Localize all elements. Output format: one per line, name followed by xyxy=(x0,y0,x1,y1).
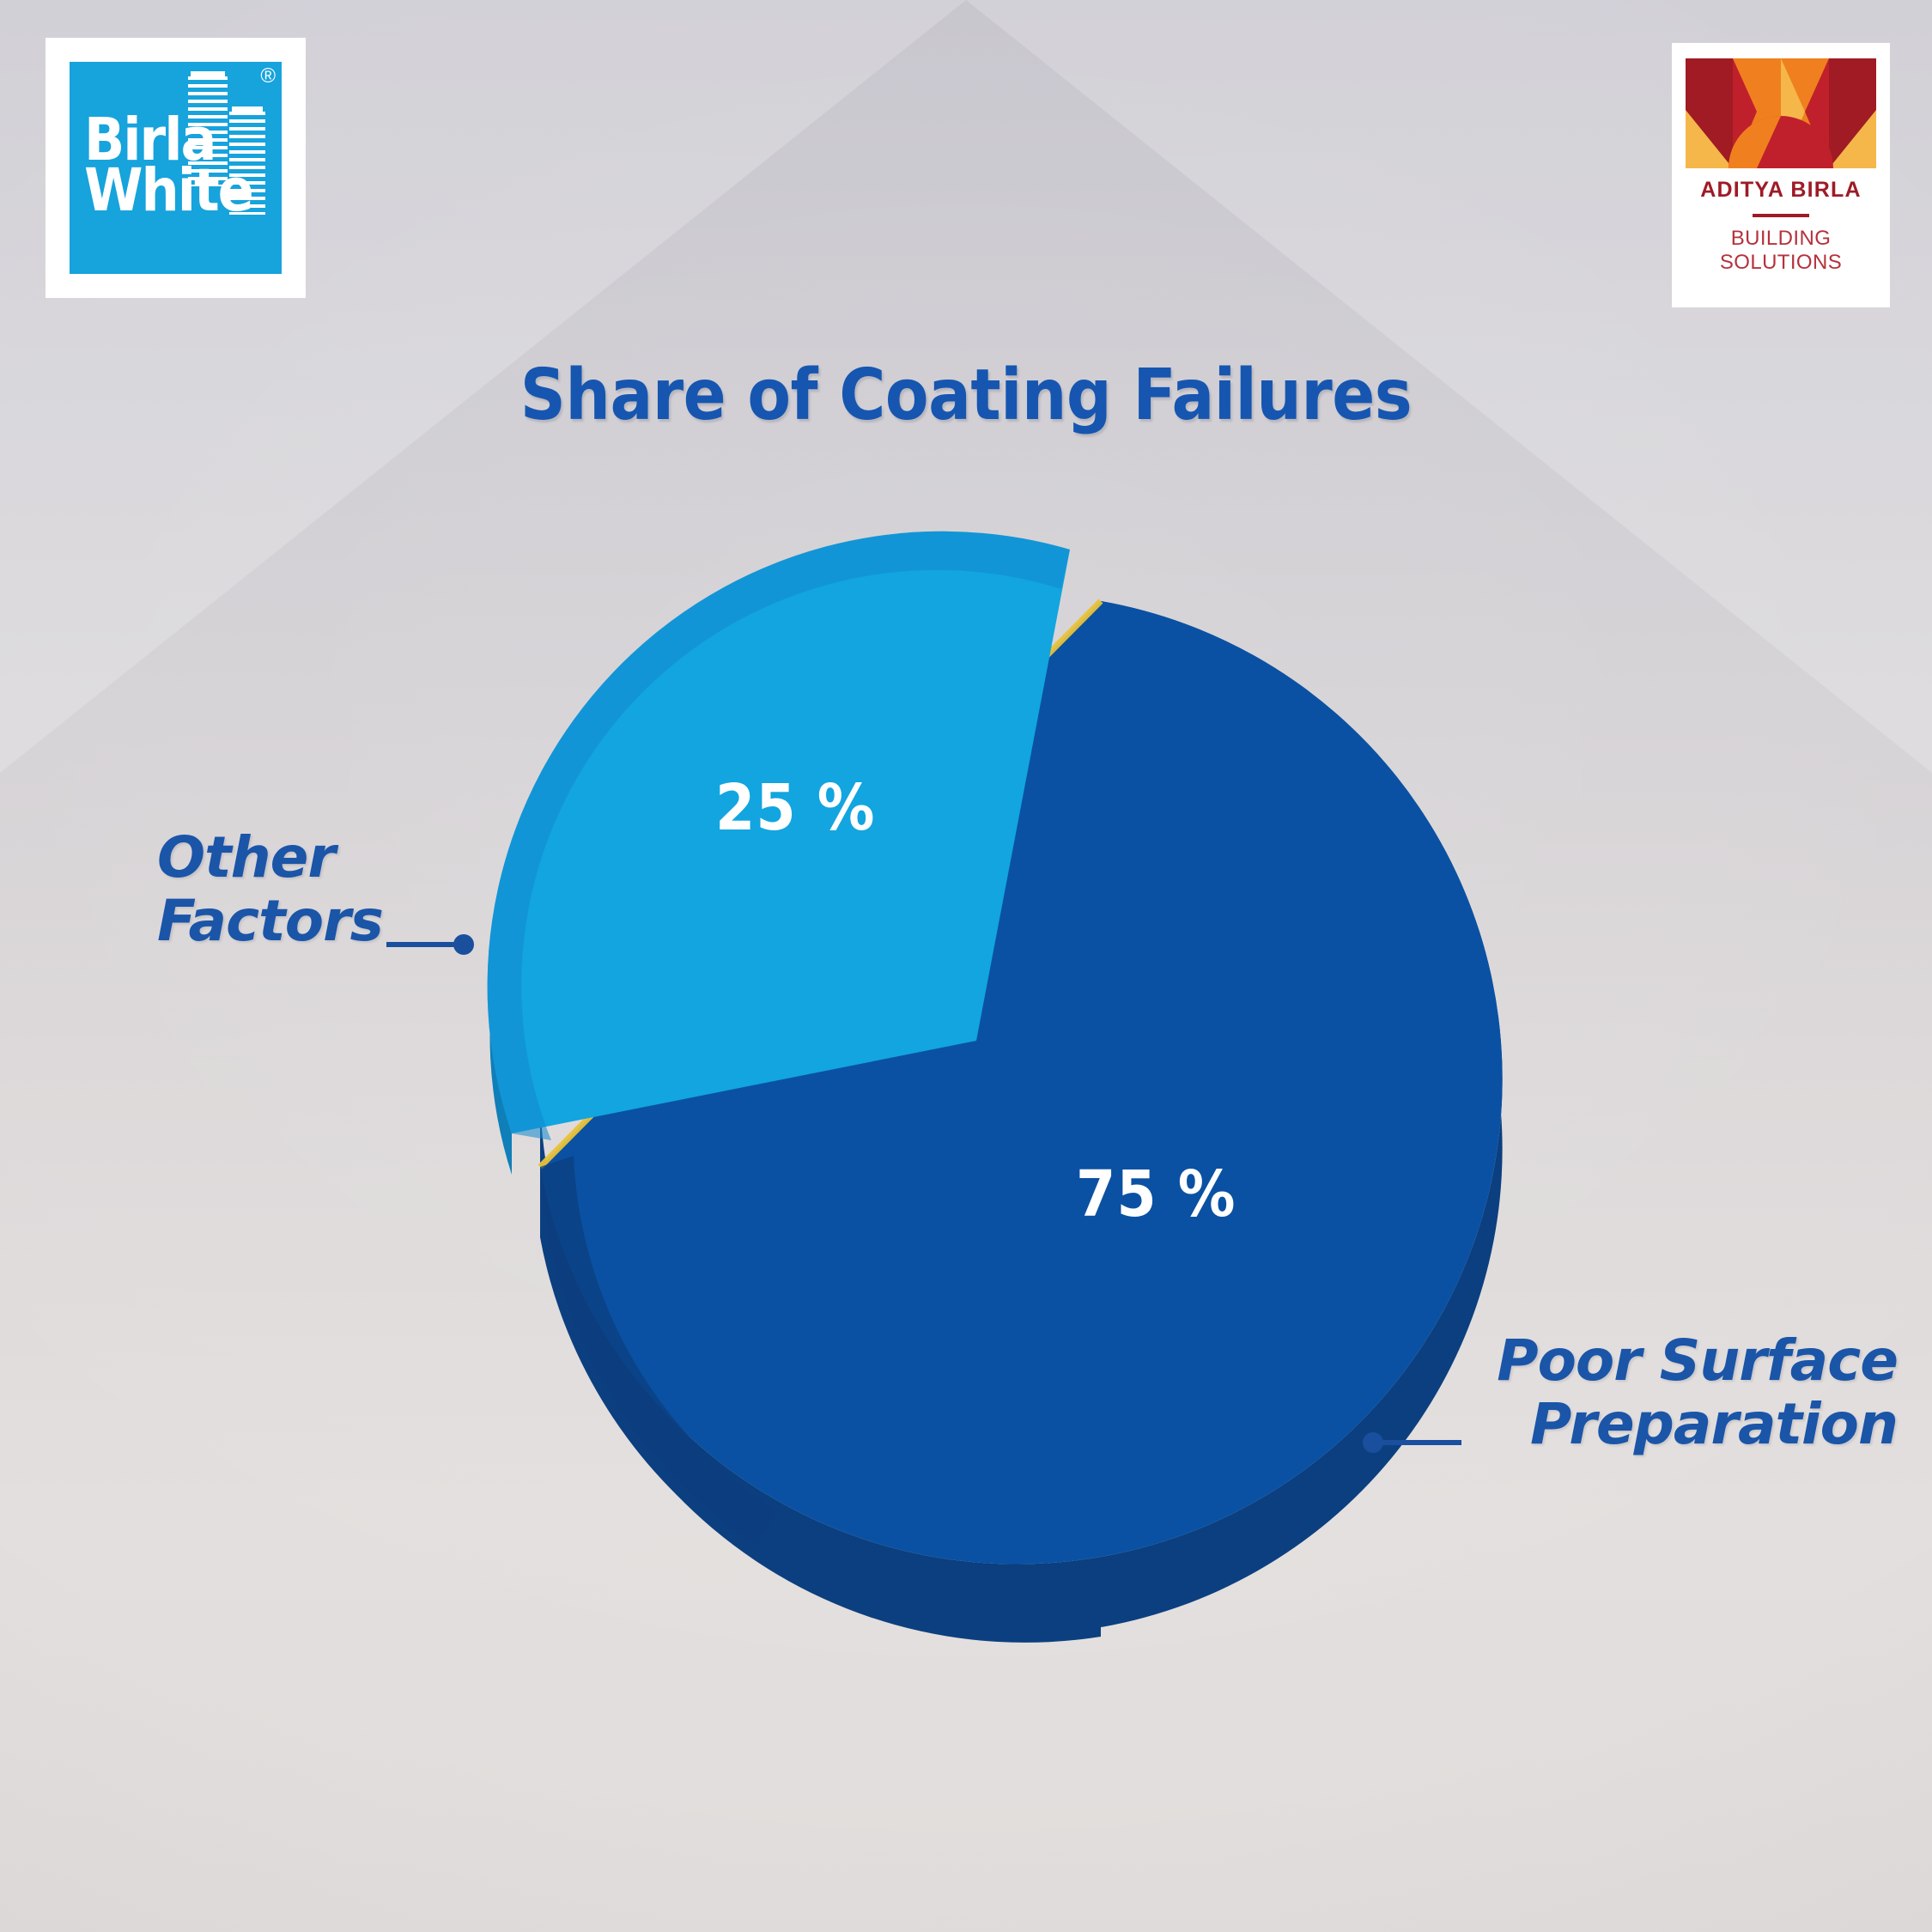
callout-label-poor-line1: Poor Surface xyxy=(1497,1329,1898,1393)
leader-dot-other-factors xyxy=(453,934,474,955)
birla-white-wordmark-line2: White xyxy=(84,166,252,216)
infographic-canvas: ® Birla White xyxy=(0,0,1932,1932)
callout-label-poor-line2: Preparation xyxy=(1497,1393,1898,1456)
leader-dot-poor-surface-preparation xyxy=(1363,1432,1383,1453)
pie-chart-svg xyxy=(0,0,1932,1932)
callout-label-other-factors-line1: Other xyxy=(157,826,383,890)
birla-white-wordmark: Birla White xyxy=(84,115,252,217)
slice-value-poor-surface-preparation: 75 % xyxy=(1076,1157,1236,1231)
callout-label-poor-surface-preparation: Poor Surface Preparation xyxy=(1497,1329,1898,1456)
pie-chart: 25 % 75 % xyxy=(0,0,1932,1932)
slice-value-other-factors: 25 % xyxy=(715,771,876,845)
leader-line-poor-surface-preparation xyxy=(1374,1440,1461,1445)
registered-trademark-icon: ® xyxy=(260,64,276,88)
callout-label-other-factors-line2: Factors xyxy=(157,890,383,953)
callout-label-other-factors: Other Factors xyxy=(157,826,383,953)
